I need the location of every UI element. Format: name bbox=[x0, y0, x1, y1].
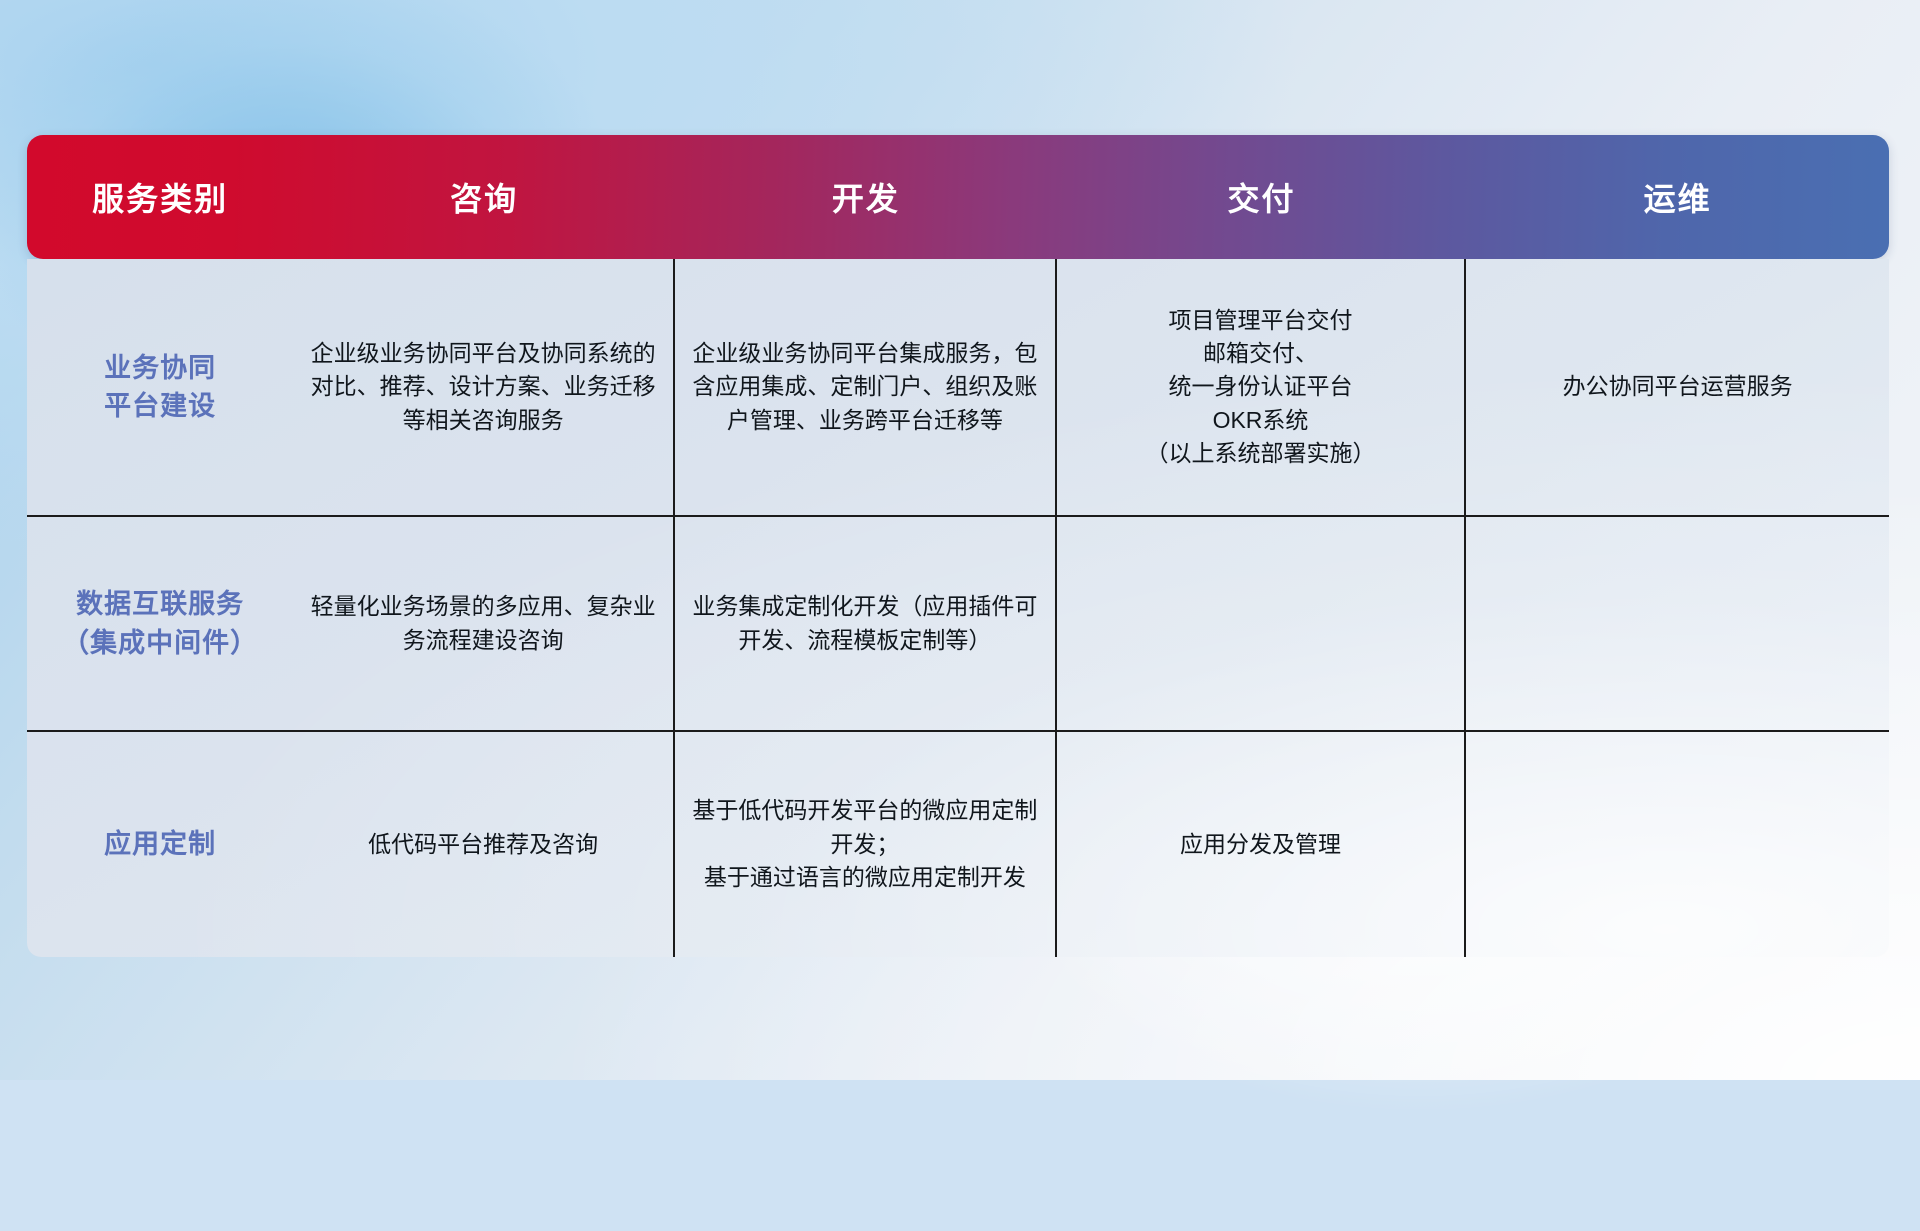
column-header-consulting: 咨询 bbox=[293, 135, 675, 259]
table-body: 业务协同平台建设 企业级业务协同平台及协同系统的对比、推荐、设计方案、业务迁移等… bbox=[27, 259, 1889, 957]
cell-row1-development: 企业级业务协同平台集成服务，包含应用集成、定制门户、组织及账户管理、业务跨平台迁… bbox=[675, 259, 1057, 517]
cell-row1-operations: 办公协同平台运营服务 bbox=[1466, 259, 1889, 517]
service-matrix-table-container: 服务类别 咨询 开发 交付 运维 业务协同平台建设 企业级业务协同平台及协同系统… bbox=[27, 135, 1889, 957]
column-header-operations: 运维 bbox=[1466, 135, 1889, 259]
cell-row2-development: 业务集成定制化开发（应用插件可开发、流程模板定制等） bbox=[675, 517, 1057, 732]
cell-row3-consulting: 低代码平台推荐及咨询 bbox=[293, 732, 675, 957]
column-header-development-label: 开发 bbox=[832, 181, 900, 217]
cell-row1-delivery: 项目管理平台交付邮箱交付、统一身份认证平台OKR系统（以上系统部署实施） bbox=[1057, 259, 1467, 517]
table-row: 数据互联服务（集成中间件） 轻量化业务场景的多应用、复杂业务流程建设咨询 业务集… bbox=[27, 517, 1889, 732]
table-row: 应用定制 低代码平台推荐及咨询 基于低代码开发平台的微应用定制开发；基于通过语言… bbox=[27, 732, 1889, 957]
cell-row2-delivery bbox=[1057, 517, 1467, 732]
column-header-delivery: 交付 bbox=[1057, 135, 1467, 259]
column-header-category-label: 服务类别 bbox=[92, 181, 228, 217]
table-row: 业务协同平台建设 企业级业务协同平台及协同系统的对比、推荐、设计方案、业务迁移等… bbox=[27, 259, 1889, 517]
cell-row3-delivery: 应用分发及管理 bbox=[1057, 732, 1467, 957]
row-label-business-collaboration: 业务协同平台建设 bbox=[27, 259, 293, 517]
cell-row3-operations bbox=[1466, 732, 1889, 957]
column-header-development: 开发 bbox=[675, 135, 1057, 259]
column-header-delivery-label: 交付 bbox=[1227, 181, 1295, 217]
row-label-application-customization: 应用定制 bbox=[27, 732, 293, 957]
cell-row2-operations bbox=[1466, 517, 1889, 732]
cell-row1-consulting: 企业级业务协同平台及协同系统的对比、推荐、设计方案、业务迁移等相关咨询服务 bbox=[293, 259, 675, 517]
row-label-data-interconnect-service: 数据互联服务（集成中间件） bbox=[27, 517, 293, 732]
cell-row3-development: 基于低代码开发平台的微应用定制开发；基于通过语言的微应用定制开发 bbox=[675, 732, 1057, 957]
column-header-category: 服务类别 bbox=[27, 135, 293, 259]
column-header-consulting-label: 咨询 bbox=[450, 181, 518, 217]
service-matrix-table: 服务类别 咨询 开发 交付 运维 业务协同平台建设 企业级业务协同平台及协同系统… bbox=[27, 135, 1889, 957]
column-header-operations-label: 运维 bbox=[1644, 181, 1712, 217]
table-header-row: 服务类别 咨询 开发 交付 运维 bbox=[27, 135, 1889, 259]
cell-row2-consulting: 轻量化业务场景的多应用、复杂业务流程建设咨询 bbox=[293, 517, 675, 732]
table-header: 服务类别 咨询 开发 交付 运维 bbox=[27, 135, 1889, 259]
